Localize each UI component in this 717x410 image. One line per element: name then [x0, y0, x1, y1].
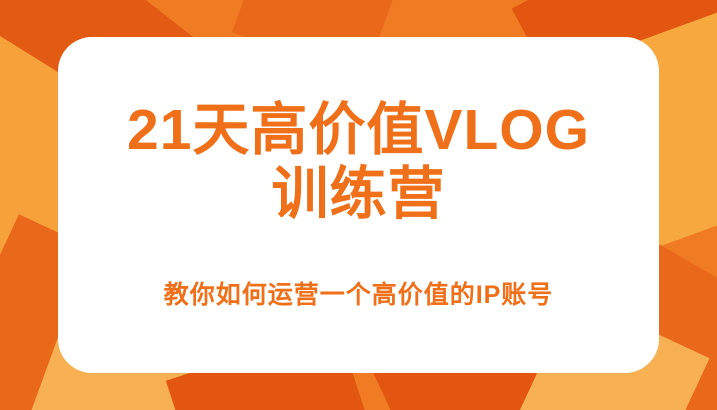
title-line-1: 21天高价值VLOG	[127, 99, 590, 163]
poster-subtitle: 教你如何运营一个高价值的IP账号	[164, 275, 554, 311]
promo-poster: 21天高价值VLOG 训练营 教你如何运营一个高价值的IP账号	[0, 0, 717, 410]
poster-title: 21天高价值VLOG 训练营	[127, 99, 590, 227]
title-line-2: 训练营	[127, 163, 590, 227]
content-card: 21天高价值VLOG 训练营 教你如何运营一个高价值的IP账号	[58, 37, 659, 373]
